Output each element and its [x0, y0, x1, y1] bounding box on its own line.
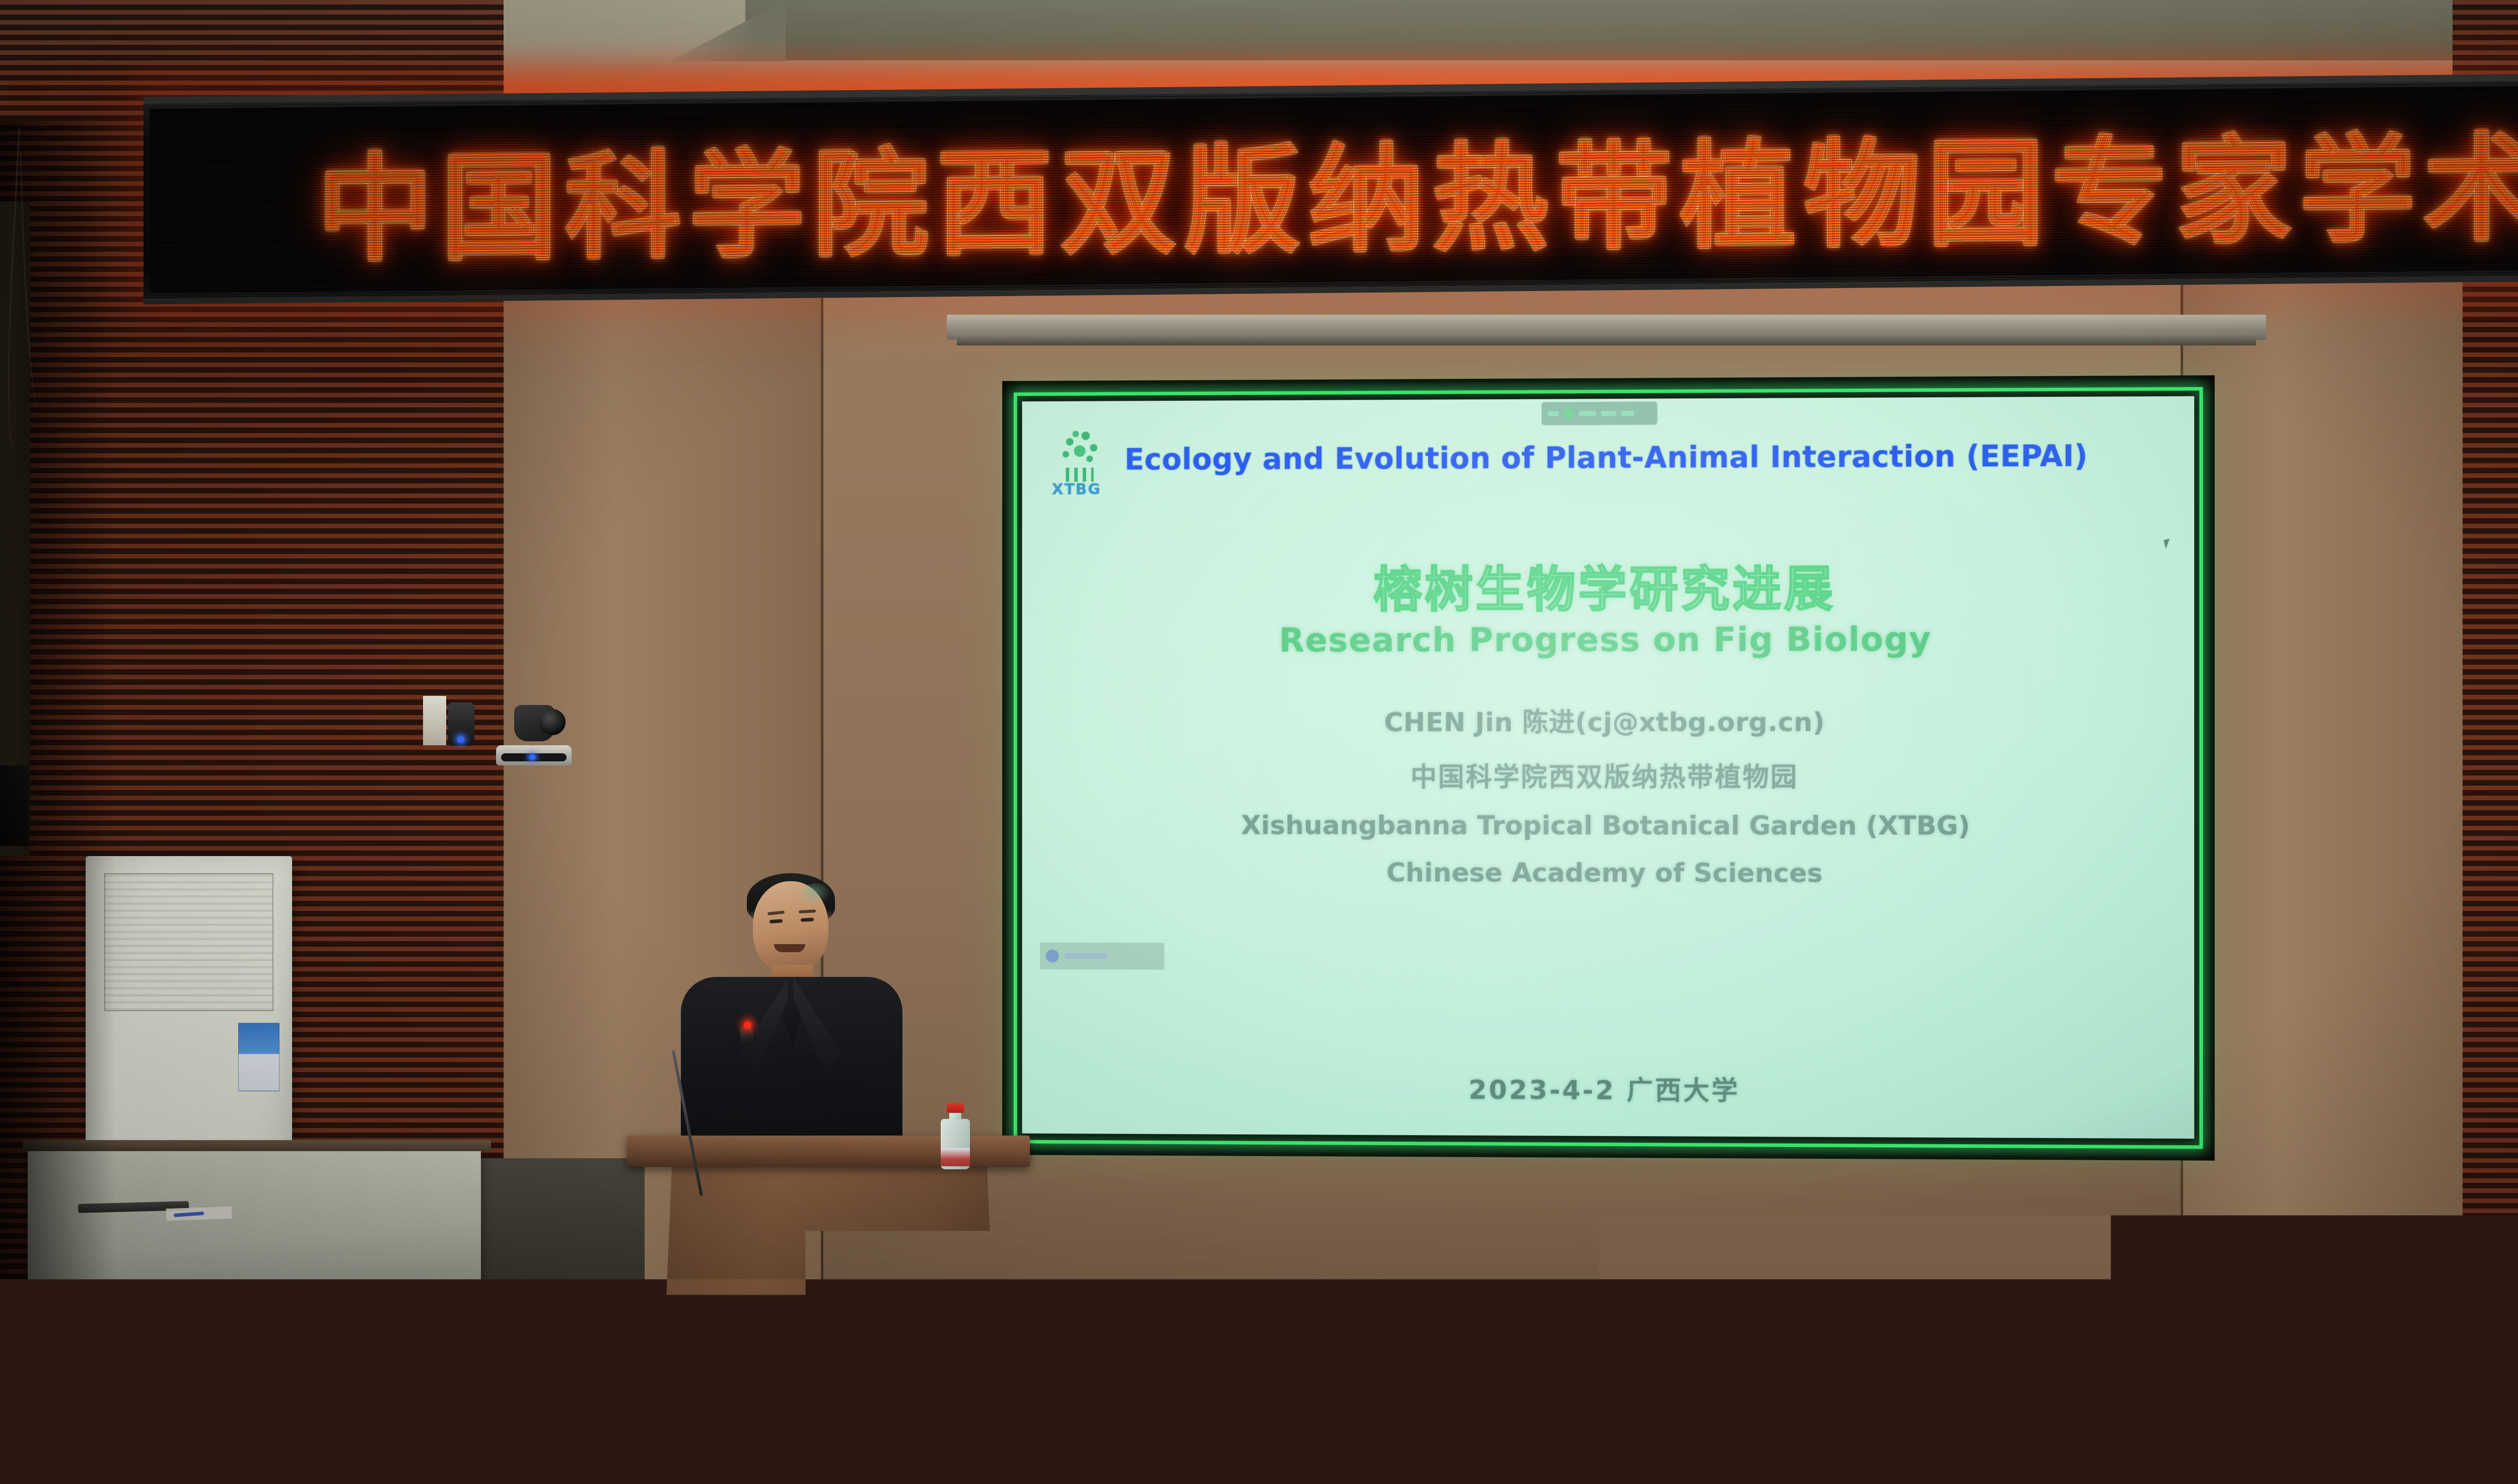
bottle-cap — [947, 1103, 964, 1113]
tree-canopy-icon — [1055, 426, 1105, 472]
podium-body: 1932 广西大学 — [658, 1166, 1001, 1484]
emblem-ring-char: 大 — [850, 1349, 867, 1365]
wall-mount-plate — [423, 696, 446, 745]
lecture-hall-photo: 中国科学院西双版纳热带植物园专家学术报告会 XTBG Ecology and E… — [0, 0, 2518, 1484]
speaker-eye-right — [801, 917, 814, 922]
slide-date-venue: 2023-4-2 广西大学 — [1022, 1067, 2195, 1109]
slide-title-chinese: 榕树生物学研究进展 — [1022, 548, 2195, 621]
ptz-camera — [496, 705, 572, 765]
slide-affiliation-en: Xishuangbanna Tropical Botanical Garden … — [1022, 810, 2195, 841]
taskbar-label-bar — [1065, 953, 1107, 959]
ptz-camera-head — [514, 705, 554, 741]
emblem-trees-icon — [840, 1387, 888, 1440]
led-banner-text: 中国科学院西双版纳热带植物园专家学术报告会 — [246, 90, 2518, 285]
tree-trunks-icon — [1066, 468, 1093, 482]
power-outlet[interactable] — [1557, 1429, 1591, 1450]
led-banner: 中国科学院西双版纳热带植物园专家学术报告会 — [144, 69, 2518, 305]
ac-left-energy-label — [238, 1023, 279, 1092]
wall-microphone-led-icon — [457, 736, 464, 743]
xtbg-wordmark: XTBG — [1052, 480, 1108, 498]
emblem-ring-char: 西 — [827, 1331, 838, 1347]
ptz-camera-led-icon — [529, 754, 535, 760]
bottle-label — [941, 1148, 970, 1166]
slide-affiliation-cn: 中国科学院西双版纳热带植物园 — [1022, 756, 2195, 794]
xtbg-logo-icon: XTBG — [1048, 425, 1111, 495]
slide-group-title: Ecology and Evolution of Plant-Animal In… — [1125, 439, 2088, 476]
toolbar-icon-3[interactable] — [1601, 411, 1616, 416]
slide-header: XTBG Ecology and Evolution of Plant-Anim… — [1048, 417, 2174, 497]
power-outlet[interactable] — [1664, 1429, 1698, 1450]
screen-roller — [957, 332, 2256, 345]
ac-left-grille — [104, 873, 273, 1011]
mouse-cursor-icon — [2163, 539, 2172, 549]
power-outlet[interactable] — [1629, 1429, 1663, 1450]
slide-title-english: Research Progress on Fig Biology — [1022, 619, 2195, 660]
toolbar-record-icon[interactable] — [1564, 408, 1574, 418]
wall-power-outlets[interactable] — [1557, 1429, 1698, 1450]
slide-author-name: CHEN Jin 陈进(cj@xtbg.org.cn) — [1022, 700, 2195, 739]
toolbar-icon-4[interactable] — [1621, 411, 1634, 416]
emblem-ring-char: 广 — [794, 1332, 809, 1349]
emblem-leaf-icon — [795, 1349, 859, 1424]
toolbar-icon-2[interactable] — [1579, 411, 1596, 416]
floating-toolbar[interactable] — [1542, 402, 1657, 426]
toolbar-icon-1[interactable] — [1548, 411, 1559, 416]
audience-member-head — [1041, 1420, 1101, 1468]
water-bottle — [941, 1104, 970, 1169]
presentation-slide: XTBG Ecology and Evolution of Plant-Anim… — [1022, 396, 2195, 1139]
side-cabinet-light — [28, 1148, 481, 1294]
side-cabinet-lower — [28, 1289, 310, 1484]
projection-screen: XTBG Ecology and Evolution of Plant-Anim… — [1007, 380, 2210, 1156]
camera-lens-icon — [539, 709, 566, 735]
emblem-founding-year: 1932 — [779, 1360, 802, 1387]
taskbar-app-icon[interactable] — [1046, 950, 1059, 963]
emblem-inner-ring — [775, 1337, 874, 1437]
slide-academy-line: Chinese Academy of Sciences — [1022, 858, 2195, 889]
slide-author-block: CHEN Jin 陈进(cj@xtbg.org.cn) 中国科学院西双版纳热带植… — [1022, 700, 2195, 906]
power-outlet[interactable] — [1593, 1429, 1627, 1450]
university-emblem: 1932 广西大学 — [761, 1324, 887, 1450]
speaker-hair-highlight — [801, 883, 831, 905]
led-banner-panel: 中国科学院西双版纳热带植物园专家学术报告会 — [150, 82, 2518, 294]
slide-taskbar-widget[interactable] — [1040, 943, 1164, 970]
emblem-institution-ring: 广西大学 — [761, 1324, 887, 1450]
podium: 1932 广西大学 — [627, 1136, 1030, 1484]
wall-utility-box — [0, 765, 29, 846]
speaker-mouth — [774, 944, 805, 952]
emblem-ring-char: 学 — [859, 1383, 873, 1392]
bottle-body — [941, 1119, 970, 1169]
side-cabinet-top-trim — [23, 1140, 491, 1151]
microphone-active-led-icon — [744, 1021, 751, 1029]
